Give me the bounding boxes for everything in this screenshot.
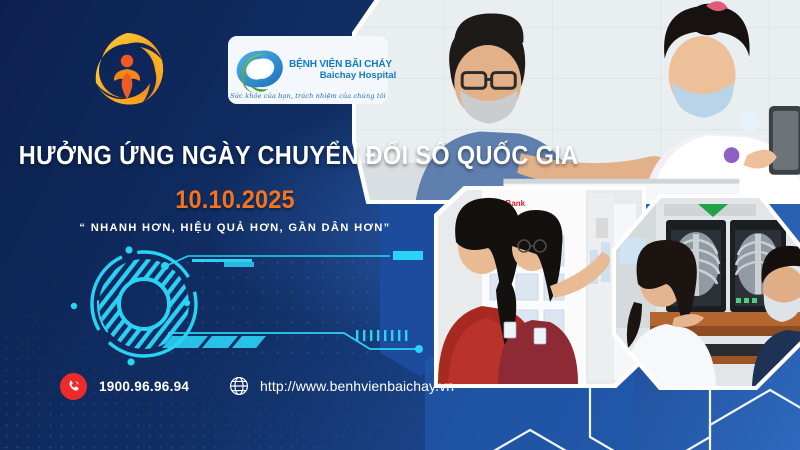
hospital-name-vi: BỆNH VIỆN BÃI CHÁY	[289, 59, 392, 70]
hospital-name-block: BỆNH VIỆN BÃI CHÁY Baichay Hospital	[289, 59, 396, 82]
hospital-name-en: Baichay Hospital	[289, 70, 396, 82]
phone-number: 1900.96.96.94	[99, 379, 189, 394]
hospital-tagline: Sức khỏe của bạn, trách nhiệm của chúng …	[228, 92, 388, 100]
digital-transformation-day-banner: HDBank HƯỚNG DẪN THANH TOÁN VIỆN PHÍ KHÔ…	[0, 0, 800, 450]
tech-ring-hud-graphic	[60, 238, 460, 370]
brand-swirl-person-logo	[85, 28, 169, 112]
website-url: http://www.benhvienbaichay.vn	[260, 378, 454, 394]
phone-icon	[60, 373, 87, 400]
globe-icon	[228, 375, 250, 397]
photo-staff-at-information-board: HDBank HƯỚNG DẪN THANH TOÁN VIỆN PHÍ KHÔ…	[438, 190, 642, 384]
hospital-swirl-icon	[234, 45, 286, 97]
page-title: HƯỞNG ỨNG NGÀY CHUYỂN ĐỔI SỐ QUỐC GIA	[19, 144, 451, 170]
photo-doctor-and-nurse-with-tablet	[356, 0, 800, 200]
hospital-logo-card: BỆNH VIỆN BÃI CHÁY Baichay Hospital Sức …	[228, 36, 388, 104]
phone-contact[interactable]: 1900.96.96.94	[60, 372, 189, 400]
event-date: 10.10.2025	[14, 186, 456, 215]
slogan-quote: “ NHANH HƠN, HIỆU QUẢ HƠN, GẦN DÂN HƠN”	[0, 222, 470, 234]
website-contact[interactable]: http://www.benhvienbaichay.vn	[228, 372, 454, 400]
photo-radiologists-reviewing-xray	[616, 198, 800, 386]
